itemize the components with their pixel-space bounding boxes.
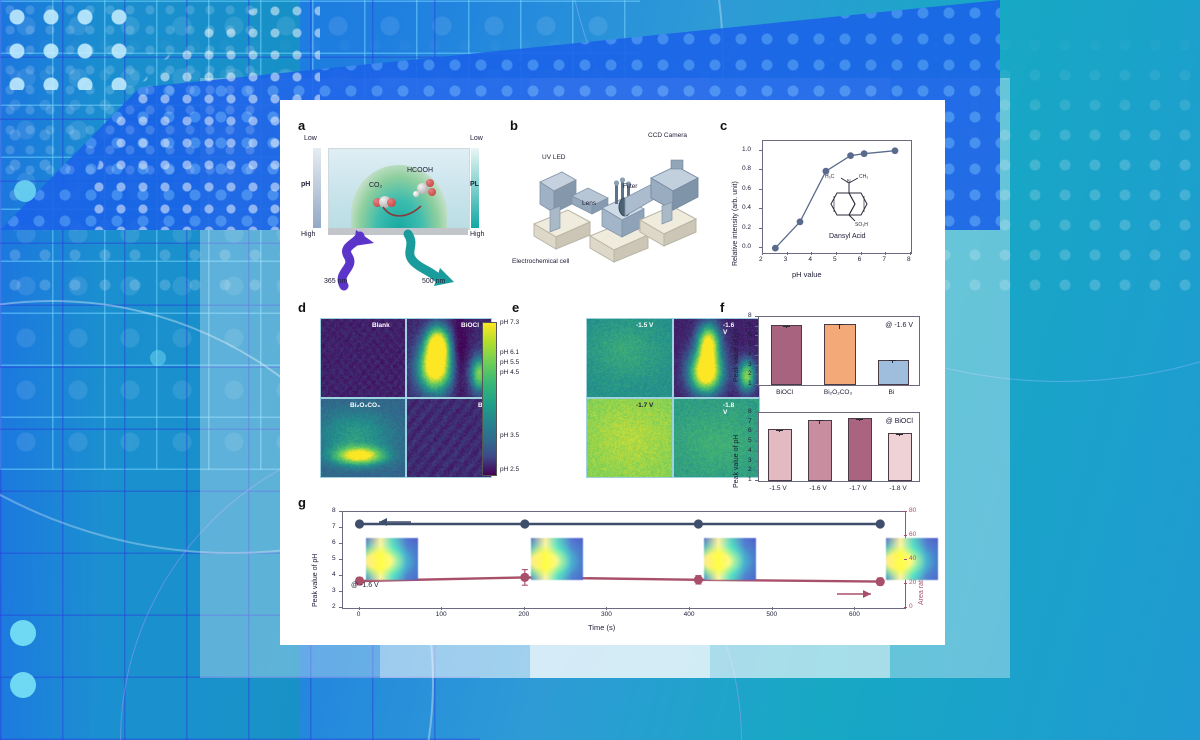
panel-f-top-plot-area: @ -1.6 V	[758, 316, 920, 386]
dansyl-acid-structure-icon: N H₃C CH₃ SO₃H	[825, 171, 887, 229]
svg-text:SO₃H: SO₃H	[855, 222, 868, 228]
category-label-2: -1.7 V	[842, 485, 874, 492]
pl-image-15v	[586, 318, 673, 398]
panel-a: a Low High Low High pH PL	[298, 118, 503, 293]
pl-image-17v	[586, 398, 673, 478]
pl-image-biocl-caption: BiOCl	[461, 322, 479, 329]
svg-text:CH₃: CH₃	[859, 174, 868, 180]
bar-1	[808, 420, 832, 481]
panel-f-top-annotation: @ -1.6 V	[885, 322, 913, 329]
category-label-2: Bi	[875, 389, 907, 396]
panel-e-label: e	[512, 300, 519, 315]
ph-gradient-bar	[313, 148, 321, 228]
panel-f-bottom-plot-area: @ BiOCl	[758, 412, 920, 482]
panel-g-inset-thumbnail-1	[531, 538, 583, 580]
ccd-camera-label: CCD Camera	[648, 132, 687, 139]
bar-2	[848, 418, 872, 481]
svg-text:N: N	[847, 179, 851, 185]
category-label-1: Bi₂O₂CO₃	[822, 389, 854, 396]
background-circle-3	[10, 672, 36, 698]
bar-1	[824, 324, 855, 385]
panel-b-label: b	[510, 118, 518, 133]
panel-c-plot-area: N H₃C CH₃ SO₃H Dansyl Acid	[762, 140, 912, 254]
panel-f-label: f	[720, 300, 724, 315]
reaction-cell: CO₂ HCOOH	[328, 148, 470, 230]
uv-led-label: UV LED	[542, 154, 565, 161]
pl-gradient-bar	[471, 148, 479, 228]
pl-image-17v-caption: -1.7 V	[636, 402, 653, 409]
category-label-0: BiOCl	[769, 389, 801, 396]
panel-g-series	[343, 512, 905, 608]
ph-colorbar	[482, 322, 497, 476]
svg-text:H₃C: H₃C	[825, 174, 835, 180]
panel-c-x-title: pH value	[792, 270, 822, 279]
ph-high-label: High	[301, 231, 315, 238]
panel-c-label: c	[720, 118, 727, 133]
ph-low-label: Low	[304, 135, 317, 142]
pl-image-bi	[406, 398, 492, 478]
pl-image-biocl	[406, 318, 492, 398]
bar-2	[878, 360, 909, 385]
panel-g-y-title: Peak value of pH	[312, 554, 319, 607]
background-circle-1	[14, 180, 36, 202]
panel-d: d Blank BiOCl Bi₂O₂CO₃ Bi	[298, 300, 513, 485]
category-label-1: -1.6 V	[802, 485, 834, 492]
pl-image-15v-caption: -1.5 V	[636, 322, 653, 329]
panel-g-inset-thumbnail-0	[366, 538, 418, 580]
bar-0	[768, 429, 792, 481]
bar-3	[888, 433, 912, 481]
pl-low-label: Low	[470, 135, 483, 142]
panel-c: c Relative intensity (arb. unit) pH valu…	[720, 118, 935, 298]
panel-g-inset-thumbnail-2	[704, 538, 756, 580]
pl-image-bi2o2co3-caption: Bi₂O₂CO₃	[350, 402, 380, 409]
panel-d-label: d	[298, 300, 306, 315]
category-label-3: -1.8 V	[882, 485, 914, 492]
panel-f-top-y-title: Peak value of pH	[733, 329, 740, 382]
panel-g-label: g	[298, 495, 306, 510]
panel-g: g Peak value of pH Area ratio (%) Time (…	[298, 495, 938, 635]
panel-g-annotation: @ -1.6 V	[351, 582, 379, 589]
lens-label: Lens	[582, 200, 596, 207]
panel-f-bottom-y-title: Peak value of pH	[733, 435, 740, 488]
bar-0	[771, 325, 802, 385]
filter-label: Filter	[623, 183, 637, 190]
panel-f-bottom-annotation: @ BiOCl	[886, 418, 913, 425]
pl-image-bi2o2co3	[320, 398, 406, 478]
figure-card: a Low High Low High pH PL	[280, 100, 945, 645]
background-circle-2	[10, 620, 36, 646]
excitation-wavelength-label: 365 nm	[324, 278, 347, 285]
panel-g-plot-area: @ -1.6 V	[342, 511, 906, 609]
panel-c-y-title: Relative intensity (arb. unit)	[732, 181, 739, 266]
hcooh-label: HCOOH	[407, 167, 433, 174]
panel-b: b	[510, 118, 710, 293]
background-dot-grid-right	[0, 0, 130, 90]
panel-e: e -1.5 V -1.6 V -1.7 V -1.8 V	[512, 300, 712, 485]
emission-wavelength-label: 500 nm	[422, 278, 445, 285]
panel-g-x-title: Time (s)	[588, 623, 615, 632]
reaction-arrow	[381, 203, 425, 221]
pl-image-blank	[320, 318, 406, 398]
category-label-0: -1.5 V	[762, 485, 794, 492]
pl-axis-label: PL	[470, 181, 479, 188]
dansyl-acid-label: Dansyl Acid	[829, 233, 866, 240]
electrochemical-cell-label: Electrochemical cell	[512, 258, 569, 265]
co2-label: CO₂	[369, 182, 382, 189]
hcooh-molecule	[413, 179, 439, 201]
ph-axis-label: pH	[301, 181, 310, 188]
panel-f: f Peak value of pH @ -1.6 V 12345678 BiO…	[720, 300, 935, 490]
background-circle-4	[150, 350, 166, 366]
panel-a-label: a	[298, 118, 305, 133]
pl-image-blank-caption: Blank	[372, 322, 390, 329]
